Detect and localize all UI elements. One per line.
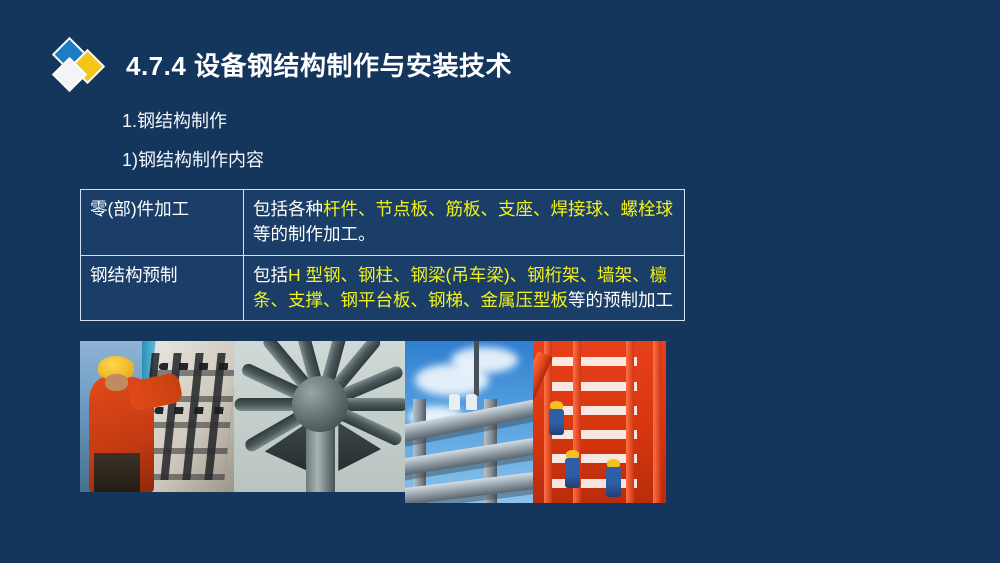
photo1-worker-face	[105, 374, 128, 391]
content-highlight: 杆件、节点板、筋板、支座、焊接球、螺栓球	[323, 199, 673, 219]
photo4-gap	[552, 406, 637, 415]
photo4-gap	[552, 430, 637, 439]
row-content: 包括H 型钢、钢柱、钢梁(吊车梁)、钢桁架、墙架、檩条、支撑、钢平台板、钢梯、金…	[244, 255, 685, 321]
content-prefix: 包括	[253, 265, 288, 285]
photo-sphere-node-joint	[234, 341, 405, 492]
photo3-crane-cable	[474, 341, 479, 396]
diamond-logo-icon	[52, 40, 112, 92]
row-label: 零(部)件加工	[81, 190, 244, 256]
row-content: 包括各种杆件、节点板、筋板、支座、焊接球、螺栓球等的制作加工。	[244, 190, 685, 256]
photo4-gap	[552, 382, 637, 391]
photo3-worker	[449, 394, 460, 410]
slide-root: 4.7.4 设备钢结构制作与安装技术 1.钢结构制作 1)钢结构制作内容 零(部…	[0, 0, 1000, 563]
photo1-worker-legs	[94, 453, 140, 492]
content-table: 零(部)件加工 包括各种杆件、节点板、筋板、支座、焊接球、螺栓球等的制作加工。 …	[80, 189, 685, 321]
photo-strip	[80, 341, 666, 503]
content-suffix: 等的制作加工。	[253, 224, 376, 244]
row-label: 钢结构预制	[81, 255, 244, 321]
photo4-gap	[552, 357, 637, 366]
photo4-worker	[549, 409, 564, 435]
photo4-worker	[606, 467, 621, 497]
table-row: 零(部)件加工 包括各种杆件、节点板、筋板、支座、焊接球、螺栓球等的制作加工。	[81, 190, 685, 256]
photo-red-truss-workers	[533, 341, 666, 503]
page-title: 4.7.4 设备钢结构制作与安装技术	[126, 53, 512, 79]
photo4-truss-post	[653, 341, 661, 503]
body-line-1: 1.钢结构制作	[122, 111, 227, 133]
content-prefix: 包括各种	[253, 199, 323, 219]
photo2-welded-ball-node	[292, 376, 348, 432]
body-line-2: 1)钢结构制作内容	[122, 150, 264, 172]
table-row: 钢结构预制 包括H 型钢、钢柱、钢梁(吊车梁)、钢桁架、墙架、檩条、支撑、钢平台…	[81, 255, 685, 321]
photo-worker-bolting	[80, 341, 234, 492]
photo4-truss-post	[626, 341, 634, 503]
content-suffix: 等的预制加工	[568, 290, 673, 310]
photo-steel-girders-sky	[405, 341, 533, 503]
slide-header: 4.7.4 设备钢结构制作与安装技术	[52, 40, 512, 92]
photo4-worker	[565, 458, 580, 488]
photo3-worker	[466, 394, 477, 410]
